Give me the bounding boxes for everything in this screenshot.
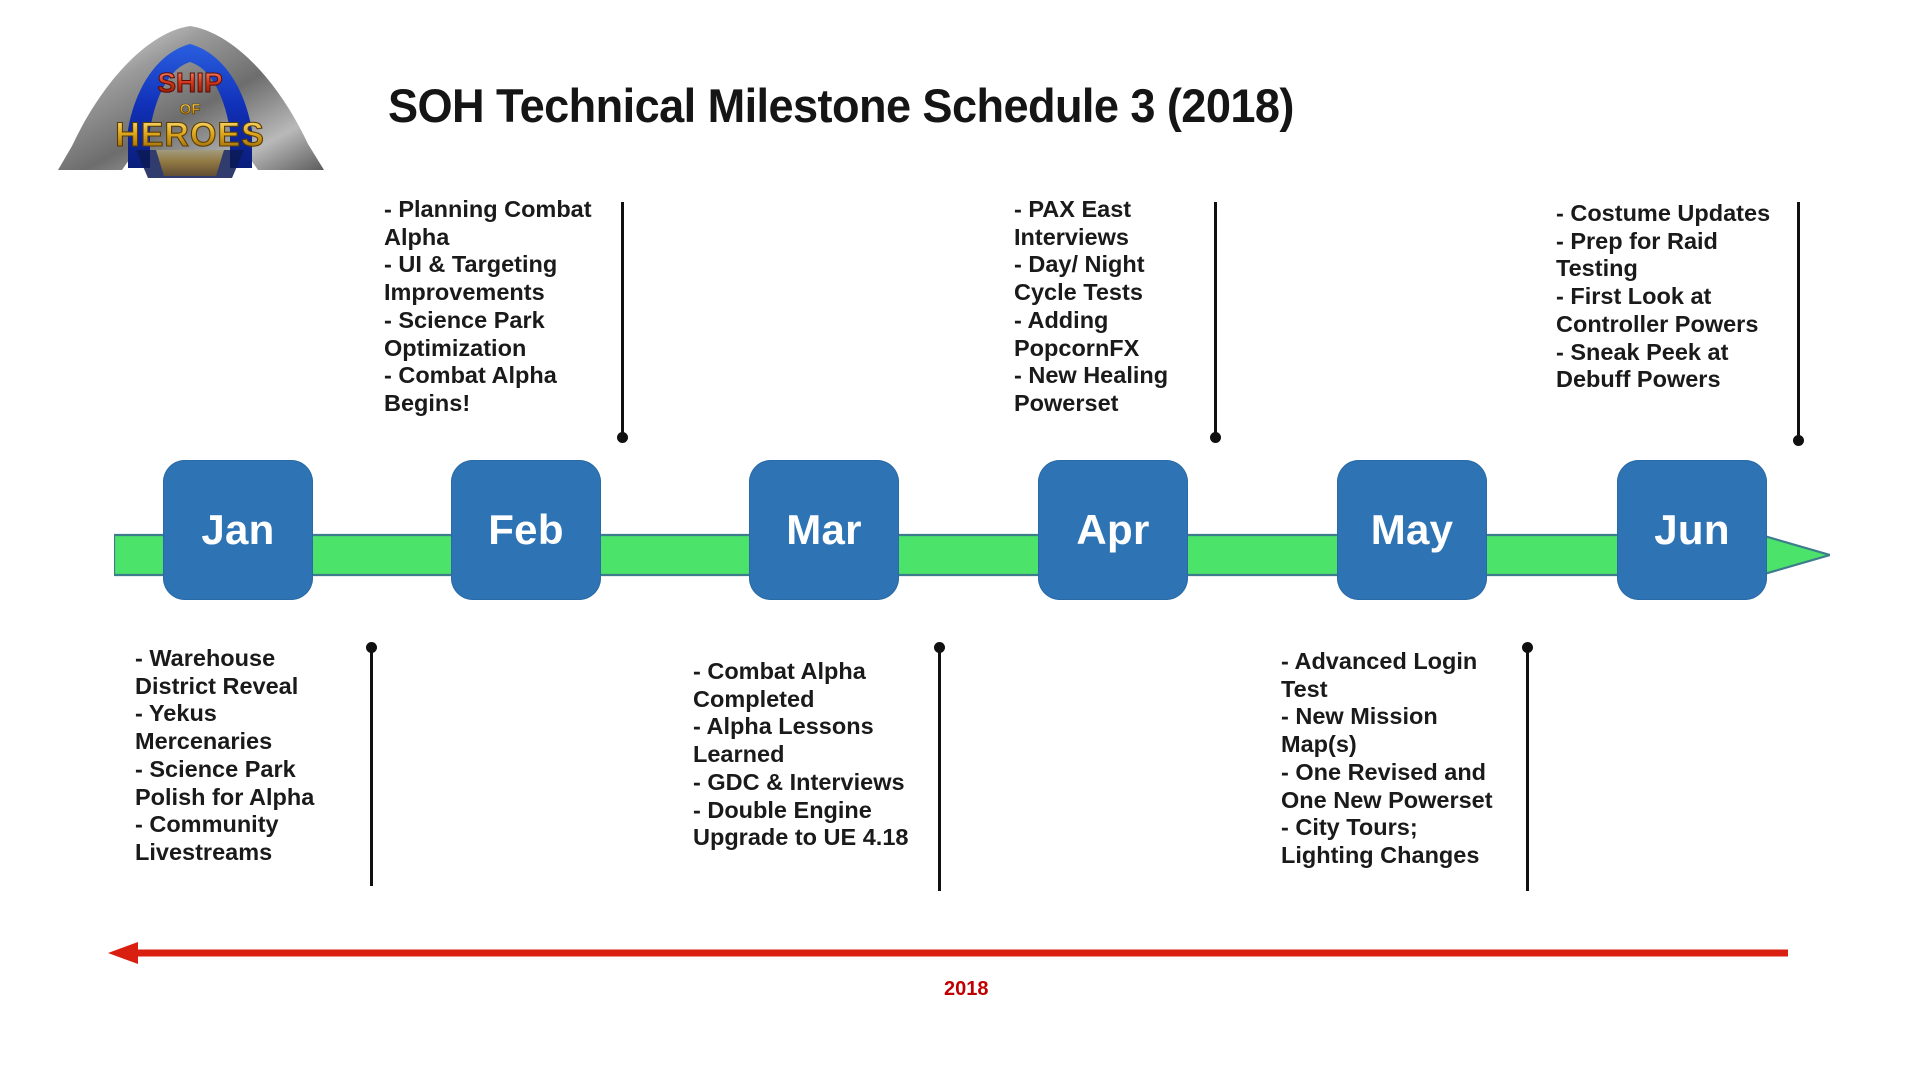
leader-stem (621, 202, 624, 437)
leader-stem (1797, 202, 1800, 440)
leader-stem (1214, 202, 1217, 437)
leader-dot (1210, 432, 1221, 443)
ship-of-heroes-logo: SHIP OF HEROES (32, 18, 348, 190)
callout-mar: - Combat Alpha Completed - Alpha Lessons… (693, 658, 933, 852)
callout-jan: - Warehouse District Reveal - Yekus Merc… (135, 645, 365, 867)
timeline-month-jan[interactable]: Jan (163, 460, 313, 600)
leader-stem (370, 648, 373, 886)
leader-dot (366, 642, 377, 653)
month-label: Mar (786, 506, 862, 554)
slide-canvas: SHIP OF HEROES SOH Technical Milestone S… (0, 0, 1920, 1080)
year-label: 2018 (944, 978, 989, 1001)
callout-jun: - Costume Updates - Prep for Raid Testin… (1556, 200, 1788, 394)
callout-feb: - Planning Combat Alpha - UI & Targeting… (384, 196, 619, 418)
timeline-month-apr[interactable]: Apr (1038, 460, 1188, 600)
svg-text:SHIP: SHIP (157, 67, 222, 98)
month-label: Feb (488, 506, 564, 554)
month-label: Jan (201, 506, 274, 554)
svg-text:HEROES: HEROES (115, 116, 265, 154)
year-span-arrow (108, 936, 1788, 970)
leader-dot (1793, 435, 1804, 446)
leader-stem (1526, 648, 1529, 891)
page-title: SOH Technical Milestone Schedule 3 (2018… (388, 78, 1294, 133)
timeline-month-jun[interactable]: Jun (1617, 460, 1767, 600)
month-label: May (1371, 506, 1454, 554)
leader-dot (934, 642, 945, 653)
month-label: Jun (1654, 506, 1730, 554)
timeline-arrow-bar (114, 529, 1830, 581)
month-label: Apr (1076, 506, 1149, 554)
leader-dot (1522, 642, 1533, 653)
leader-stem (938, 648, 941, 891)
timeline-month-may[interactable]: May (1337, 460, 1487, 600)
timeline-month-mar[interactable]: Mar (749, 460, 899, 600)
callout-apr: - PAX East Interviews - Day/ Night Cycle… (1014, 196, 1214, 418)
leader-dot (617, 432, 628, 443)
callout-may: - Advanced Login Test - New Mission Map(… (1281, 648, 1521, 870)
timeline-month-feb[interactable]: Feb (451, 460, 601, 600)
